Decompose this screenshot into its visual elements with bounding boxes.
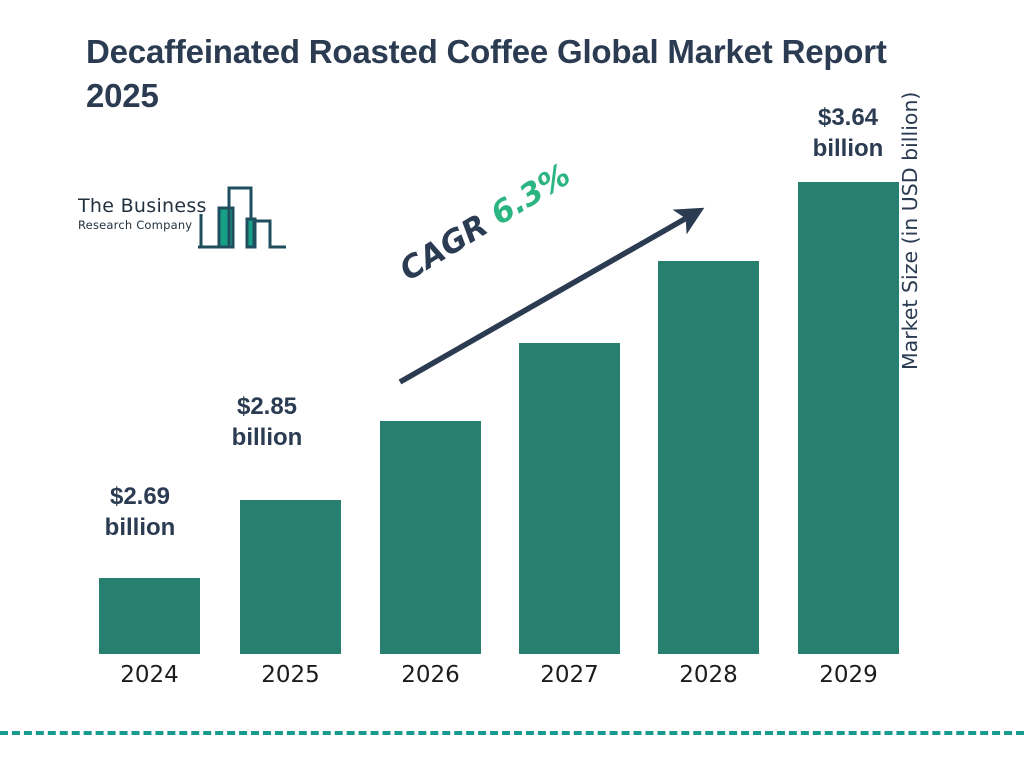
bar-value-2024-unit: billion <box>60 513 220 544</box>
xtick-2028: 2028 <box>658 662 759 688</box>
cagr-value: 6.3% <box>485 157 577 233</box>
bar-value-2029: $3.64 billion <box>778 103 918 164</box>
bar-value-2029-amount: $3.64 <box>778 103 918 134</box>
bar-value-2025-amount: $2.85 <box>187 392 347 423</box>
y-axis-label: Market Size (in USD billion) <box>898 30 922 370</box>
bar-2026 <box>380 421 481 654</box>
cagr-label: CAGR <box>394 207 495 288</box>
bar-2028 <box>658 261 759 654</box>
xtick-2024: 2024 <box>99 662 200 688</box>
bar-value-2024: $2.69 billion <box>60 482 220 543</box>
bar-value-2029-unit: billion <box>778 134 918 165</box>
bar-chart-plot: $2.69 billion $2.85 billion $3.64 billio… <box>0 0 1024 768</box>
xtick-2025: 2025 <box>240 662 341 688</box>
xtick-2026: 2026 <box>380 662 481 688</box>
xtick-2027: 2027 <box>519 662 620 688</box>
bar-2029 <box>798 182 899 654</box>
cagr-annotation: CAGR 6.3% <box>394 157 577 288</box>
bar-value-2025: $2.85 billion <box>187 392 347 453</box>
chart-page: Decaffeinated Roasted Coffee Global Mark… <box>0 0 1024 768</box>
bar-2024 <box>99 578 200 654</box>
bar-2025 <box>240 500 341 654</box>
xtick-2029: 2029 <box>798 662 899 688</box>
bar-value-2025-unit: billion <box>187 423 347 454</box>
bar-2027 <box>519 343 620 654</box>
footer-divider <box>0 731 1024 735</box>
bar-value-2024-amount: $2.69 <box>60 482 220 513</box>
